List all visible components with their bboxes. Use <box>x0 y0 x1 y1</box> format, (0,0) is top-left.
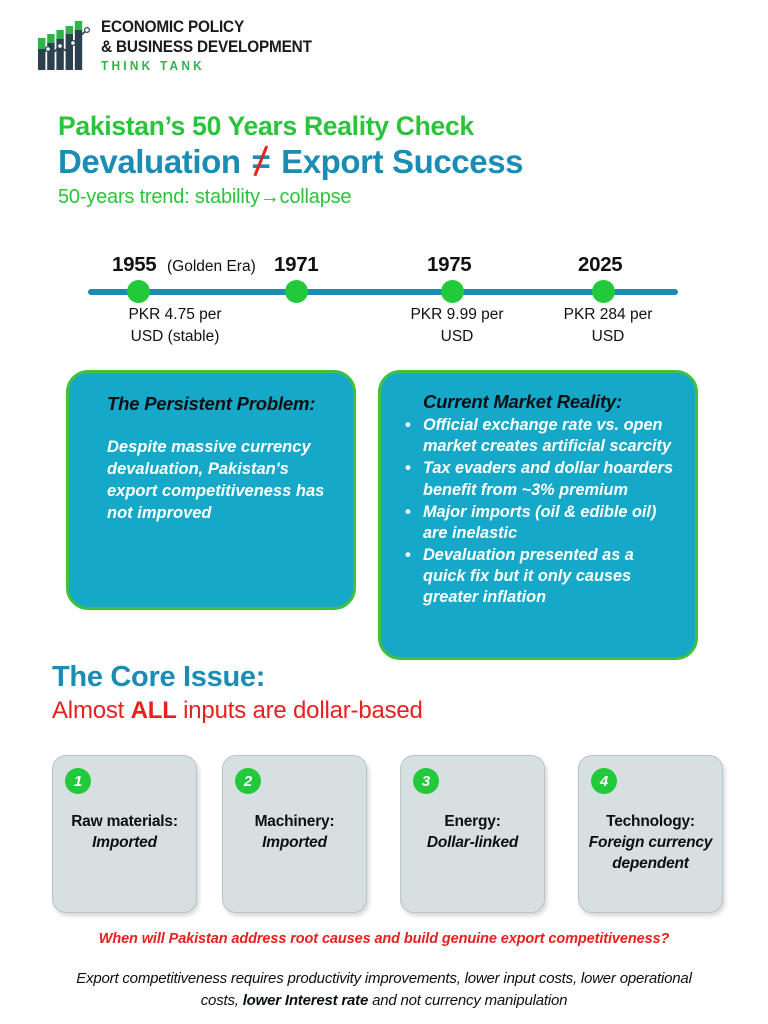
timeline-dot-1975[interactable] <box>441 280 464 303</box>
timeline-caption-1975: PKR 9.99 per USD <box>377 304 537 348</box>
card-persistent-problem-title: The Persistent Problem: <box>107 393 331 415</box>
timeline-year-1955: 1955 <box>112 253 156 277</box>
input-box-technology[interactable]: 4 Technology: Foreign currency dependent <box>578 755 723 913</box>
not-equal-icon: = <box>249 143 272 181</box>
input-box-badge-3: 3 <box>413 768 439 794</box>
input-box-machinery-text: Machinery: Imported <box>231 812 358 854</box>
card-current-market-reality-title: Current Market Reality: <box>423 391 677 413</box>
timeline-year-2025: 2025 <box>578 253 622 277</box>
timeline-year-1975: 1975 <box>427 253 471 277</box>
brand-line-3: THINK TANK <box>101 59 316 73</box>
input-box-raw-materials-value: Imported <box>92 834 157 851</box>
list-item: Devaluation presented as a quick fix but… <box>399 545 677 609</box>
card-current-market-reality: Current Market Reality: Official exchang… <box>378 370 698 660</box>
timeline-caption-1955: PKR 4.75 per USD (stable) <box>95 304 255 348</box>
input-box-technology-label: Technology: <box>606 813 695 830</box>
timeline-dot-1955[interactable] <box>127 280 150 303</box>
timeline-caption-1975-line2: USD <box>377 326 537 348</box>
footer-note-post: and not currency manipulation <box>368 992 567 1009</box>
brand-wordmark: ECONOMIC POLICY & BUSINESS DEVELOPMENT T… <box>101 18 328 73</box>
input-box-energy[interactable]: 3 Energy: Dollar-linked <box>400 755 545 913</box>
core-issue-subtitle-pre: Almost <box>52 697 131 724</box>
input-box-raw-materials-label: Raw materials: <box>71 813 178 830</box>
timeline-caption-2025: PKR 284 per USD <box>528 304 688 348</box>
title-left-word: Devaluation <box>58 143 241 180</box>
timeline-year-1971: 1971 <box>274 253 318 277</box>
title-right-word: Export Success <box>281 143 523 180</box>
timeline-axis <box>88 289 678 295</box>
input-box-technology-text: Technology: Foreign currency dependent <box>587 812 714 875</box>
input-box-badge-2: 2 <box>235 768 261 794</box>
input-box-energy-value: Dollar-linked <box>427 834 518 851</box>
timeline-caption-1955-line1: PKR 4.75 per <box>95 304 255 326</box>
input-box-badge-1: 1 <box>65 768 91 794</box>
core-issue-subtitle-emphasis: ALL <box>131 697 177 724</box>
page-title: Devaluation = Export Success <box>58 143 523 181</box>
card-current-market-reality-bullets: Official exchange rate vs. open market c… <box>399 415 677 609</box>
bar-chart-growth-icon <box>36 18 94 74</box>
input-box-raw-materials[interactable]: 1 Raw materials: Imported <box>52 755 197 913</box>
input-box-machinery[interactable]: 2 Machinery: Imported <box>222 755 367 913</box>
dollar-input-boxes: 1 Raw materials: Imported 2 Machinery: I… <box>0 755 768 915</box>
timeline-caption-2025-line1: PKR 284 per <box>528 304 688 326</box>
timeline-dot-2025[interactable] <box>592 280 615 303</box>
footer-question: When will Pakistan address root causes a… <box>0 931 768 947</box>
core-issue-subtitle: Almost ALL inputs are dollar-based <box>52 697 423 725</box>
brand-line-1: ECONOMIC POLICY <box>101 19 312 36</box>
brand-logo: ECONOMIC POLICY & BUSINESS DEVELOPMENT T… <box>36 18 328 74</box>
headline-eyebrow: Pakistan’s 50 Years Reality Check <box>58 111 474 142</box>
headline-subtitle: 50-years trend: stability→collapse <box>58 186 351 209</box>
input-box-badge-4: 4 <box>591 768 617 794</box>
input-box-energy-text: Energy: Dollar-linked <box>409 812 536 854</box>
footer-note-emphasis: lower Interest rate <box>243 992 368 1009</box>
devaluation-timeline: 1955 (Golden Era) 1971 1975 2025 PKR 4.7… <box>0 244 768 354</box>
card-persistent-problem-body: Despite massive currency devaluation, Pa… <box>107 437 331 525</box>
timeline-caption-1975-line1: PKR 9.99 per <box>377 304 537 326</box>
footer-note: Export competitiveness requires producti… <box>64 968 704 1012</box>
core-issue-subtitle-post: inputs are dollar-based <box>177 697 423 724</box>
input-box-raw-materials-text: Raw materials: Imported <box>61 812 188 854</box>
core-issue-title: The Core Issue: <box>52 661 265 694</box>
timeline-caption-2025-line2: USD <box>528 326 688 348</box>
input-box-machinery-value: Imported <box>262 834 327 851</box>
input-box-machinery-label: Machinery: <box>255 813 335 830</box>
brand-line-2: & BUSINESS DEVELOPMENT <box>101 39 312 56</box>
input-box-technology-value: Foreign currency dependent <box>589 834 712 872</box>
list-item: Major imports (oil & edible oil) are ine… <box>399 502 677 544</box>
list-item: Official exchange rate vs. open market c… <box>399 415 677 457</box>
timeline-note-golden-era: (Golden Era) <box>167 258 256 276</box>
timeline-dot-1971[interactable] <box>285 280 308 303</box>
input-box-energy-label: Energy: <box>444 813 500 830</box>
list-item: Tax evaders and dollar hoarders benefit … <box>399 458 677 500</box>
timeline-caption-1955-line2: USD (stable) <box>95 326 255 348</box>
card-persistent-problem: The Persistent Problem: Despite massive … <box>66 370 356 610</box>
